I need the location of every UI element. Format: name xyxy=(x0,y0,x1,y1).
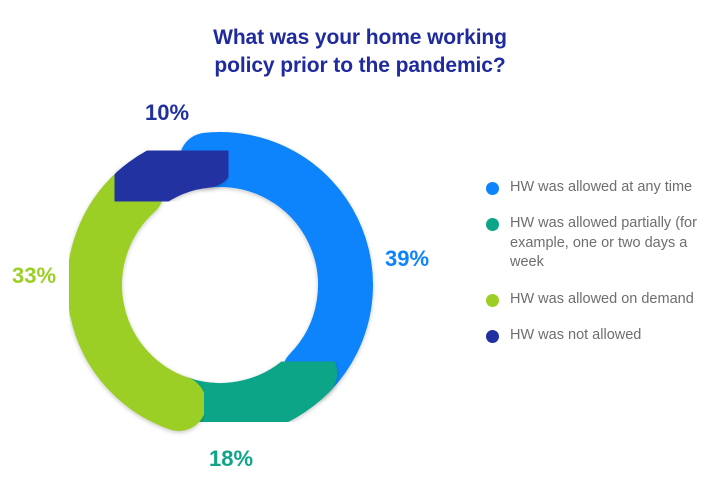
chart-figure: What was your home working policy prior … xyxy=(0,0,720,500)
donut-segments xyxy=(95,160,346,411)
legend-item-label: HW was allowed on demand xyxy=(510,290,694,309)
donut-svg xyxy=(44,108,399,466)
legend-swatch-icon xyxy=(486,330,499,343)
donut-segment[interactable] xyxy=(136,160,207,192)
donut-segment[interactable] xyxy=(95,192,179,404)
value-label-hw-not-allowed: 10% xyxy=(145,100,189,126)
legend-item-label: HW was not allowed xyxy=(510,326,641,345)
legend-item[interactable]: HW was allowed on demand xyxy=(486,290,704,309)
legend-item[interactable]: HW was allowed at any time xyxy=(486,178,704,197)
legend-item[interactable]: HW was allowed partially (for example, o… xyxy=(486,214,704,272)
chart-title: What was your home working policy prior … xyxy=(0,24,720,79)
value-label-hw-partially: 18% xyxy=(209,446,253,472)
legend-item[interactable]: HW was not allowed xyxy=(486,326,704,345)
donut-segment[interactable] xyxy=(207,160,346,373)
legend-item-label: HW was allowed at any time xyxy=(510,178,692,197)
legend-swatch-icon xyxy=(486,294,499,307)
legend-item-label: HW was allowed partially (for example, o… xyxy=(510,214,704,272)
donut-chart[interactable] xyxy=(44,108,399,466)
value-label-hw-on-demand: 33% xyxy=(12,263,56,289)
legend-swatch-icon xyxy=(486,182,499,195)
chart-legend: HW was allowed at any timeHW was allowed… xyxy=(486,178,704,346)
legend-swatch-icon xyxy=(486,218,499,231)
value-label-hw-any-time: 39% xyxy=(385,246,429,272)
